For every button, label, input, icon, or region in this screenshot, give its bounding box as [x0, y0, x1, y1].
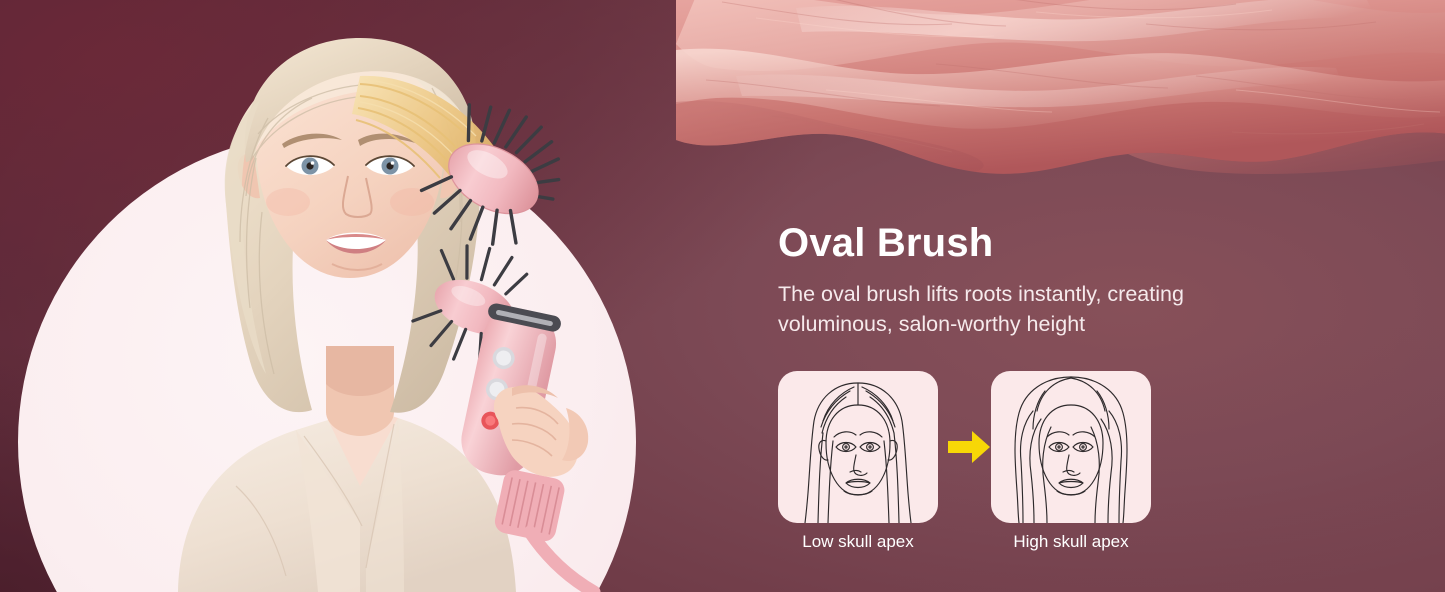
copy-block: Oval Brush The oval brush lifts roots in…: [778, 222, 1398, 339]
comparison-after: High skull apex: [991, 371, 1151, 552]
model-product-image: apcal: [60, 16, 620, 592]
silk-drape-image: [676, 0, 1445, 174]
comparison-before-label: Low skull apex: [778, 532, 938, 552]
face-card-high-apex: [991, 371, 1151, 523]
comparison-after-label: High skull apex: [991, 532, 1151, 552]
comparison-before: Low skull apex: [778, 371, 938, 552]
face-card-low-apex: [778, 371, 938, 523]
page-title: Oval Brush: [778, 222, 1398, 265]
product-feature-banner: apcal: [0, 0, 1445, 592]
subtitle: The oval brush lifts roots instantly, cr…: [778, 279, 1278, 339]
right-arrow-icon: [946, 428, 992, 466]
before-after-comparison: Low skull apex: [778, 371, 1158, 563]
